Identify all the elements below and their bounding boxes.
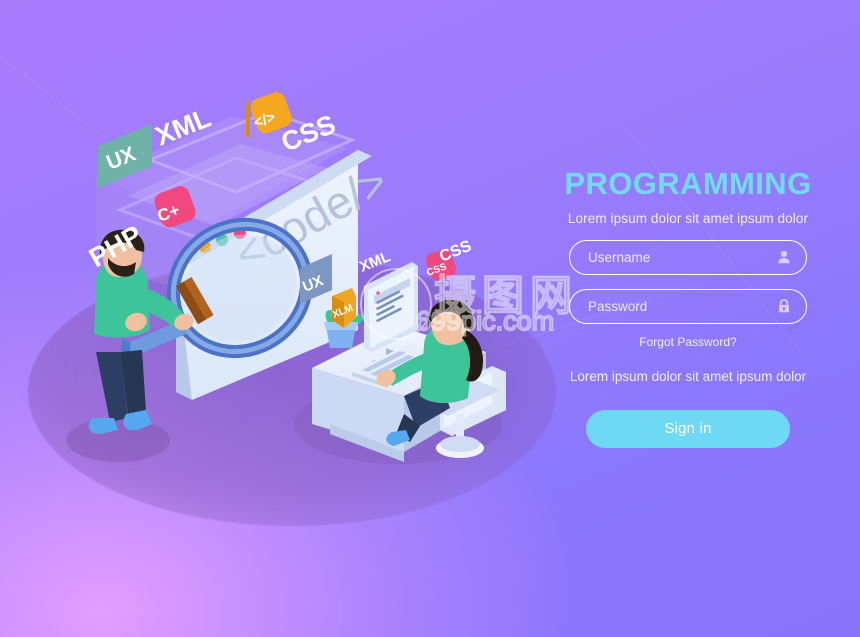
username-field[interactable] [569, 240, 807, 275]
label-css-2: CSS [437, 237, 474, 265]
forgot-password-link[interactable]: Forgot Password? [528, 335, 848, 349]
page-title: PROGRAMMING [528, 168, 848, 201]
user-icon [776, 249, 792, 265]
sign-in-button[interactable]: Sign in [586, 410, 790, 448]
panel-note: Lorem ipsum dolor sit amet ipsum dolor [528, 369, 848, 384]
isometric-illustration: <code/> [0, 0, 560, 560]
label-xml-2: XML [357, 248, 393, 276]
lock-icon [776, 298, 792, 314]
page-subtitle: Lorem ipsum dolor sit amet ipsum dolor [528, 211, 848, 226]
username-input[interactable] [570, 241, 806, 274]
login-panel: PROGRAMMING Lorem ipsum dolor sit amet i… [528, 168, 848, 448]
password-input[interactable] [570, 290, 806, 323]
password-field[interactable] [569, 289, 807, 324]
page-root: <code/> [0, 0, 860, 637]
